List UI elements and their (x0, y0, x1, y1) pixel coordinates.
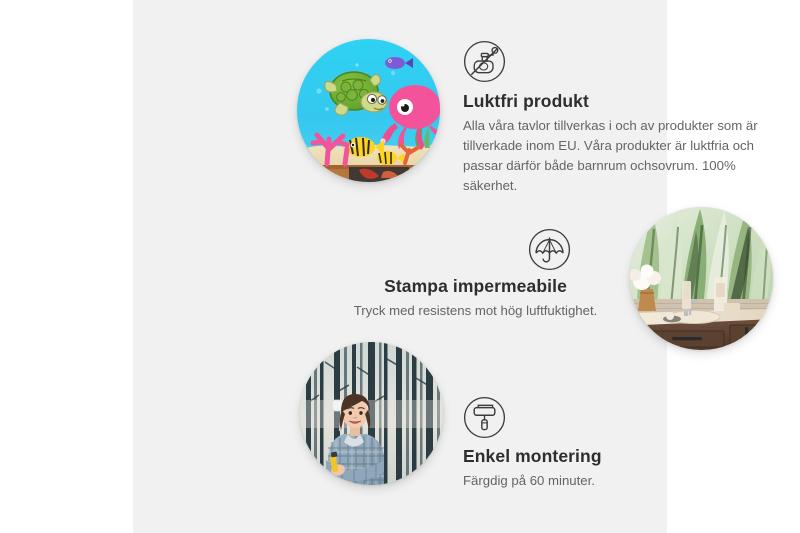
no-fragrance-icon-wrap (463, 40, 763, 83)
feature-easy-mounting: Enkel montering Färgdig på 60 minuter. (463, 396, 743, 491)
feature-odour-free: Luktfri produkt Alla våra tavlor tillver… (463, 40, 763, 196)
photo-ocean-mural (297, 39, 440, 182)
photo-bathroom-mural (630, 207, 773, 350)
feature-title: Stampa impermeabile (338, 276, 613, 298)
feature-description: Färgdig på 60 minuter. (463, 471, 743, 491)
umbrella-icon-wrap (338, 228, 613, 271)
feature-description: Alla våra tavlor tillverkas i och av pro… (463, 116, 763, 196)
feature-title: Luktfri produkt (463, 91, 763, 113)
feature-title: Enkel montering (463, 446, 743, 468)
content-panel: Luktfri produkt Alla våra tavlor tillver… (133, 0, 667, 533)
no-fragrance-icon (463, 40, 506, 83)
feature-description: Tryck med resistens mot hög luftfuktighe… (338, 301, 613, 321)
paint-roller-icon-wrap (463, 396, 743, 439)
screenshot-root: Luktfri produkt Alla våra tavlor tillver… (0, 0, 800, 533)
feature-waterproof-print: Stampa impermeabile Tryck med resistens … (338, 228, 613, 321)
paint-roller-icon (463, 396, 506, 439)
umbrella-icon (528, 228, 571, 271)
photo-painter-mural (300, 342, 443, 485)
